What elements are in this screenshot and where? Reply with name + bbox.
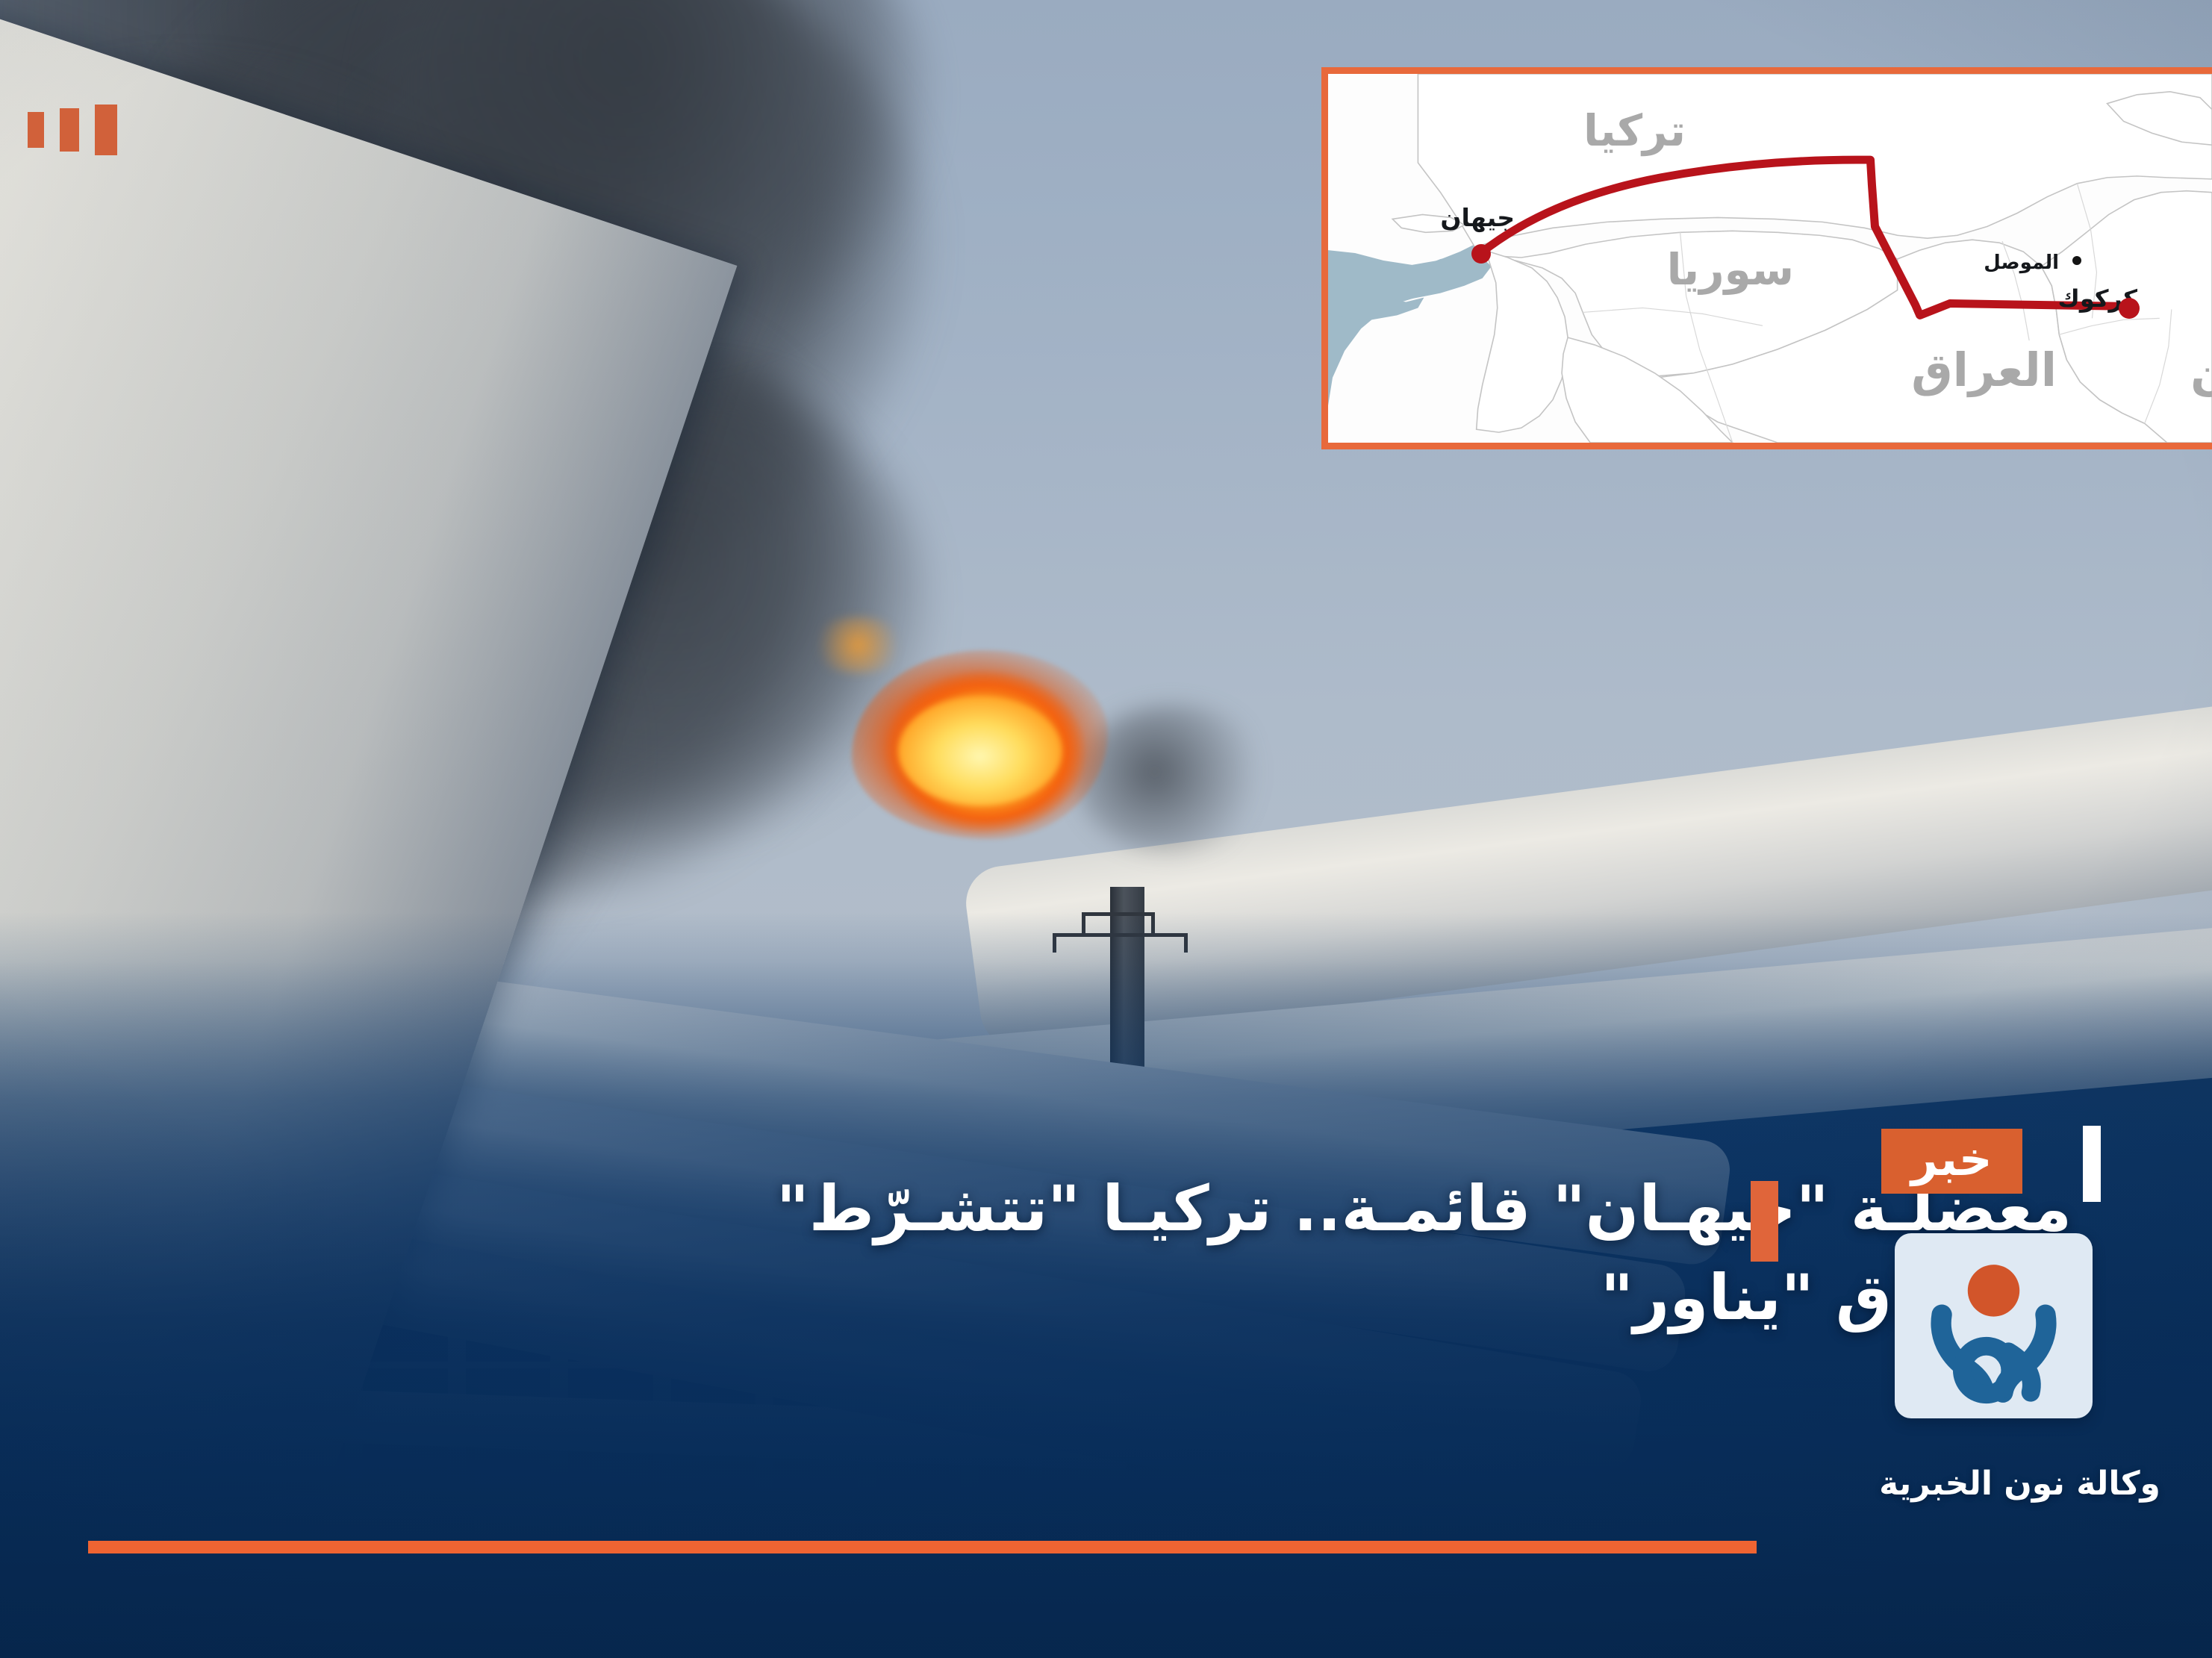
map-marker-kirkuk-dot bbox=[2119, 298, 2140, 319]
headline-line-2: والعراق "يناور" bbox=[467, 1253, 2072, 1342]
headline: معضلـة "جيهـان" قائمـة.. تركيـا "تتشـرّط… bbox=[467, 1165, 2072, 1343]
country-borders bbox=[1392, 74, 2212, 443]
agency-logo-tile bbox=[1895, 1233, 2093, 1418]
map-city-label-ceyhan: جيهان bbox=[1440, 203, 1515, 232]
bottom-rule bbox=[88, 1541, 1757, 1553]
mediterranean-sea-body bbox=[1328, 243, 1487, 405]
map-marker-ceyhan-dot bbox=[1471, 244, 1491, 264]
map-city-label-mosul: الموصل bbox=[1984, 252, 2059, 274]
headline-accent-bar bbox=[1751, 1181, 1778, 1262]
map-canvas: تركيا سوريا العراق ن جيهان الموصل كركوك bbox=[1328, 74, 2212, 443]
mark-bar-1 bbox=[95, 105, 117, 155]
mark-bar-2 bbox=[60, 108, 79, 152]
agency-logo-icon bbox=[1895, 1233, 2093, 1418]
map-inset: تركيا سوريا العراق ن جيهان الموصل كركوك bbox=[1321, 67, 2212, 449]
agency-name: وكالة نون الخبرية bbox=[1828, 1465, 2212, 1503]
news-badge: خبر bbox=[1881, 1129, 2022, 1194]
logo-head-circle bbox=[1968, 1265, 2019, 1316]
news-badge-tick bbox=[2083, 1126, 2101, 1202]
news-graphic-card: تركيا سوريا العراق ن جيهان الموصل كركوك … bbox=[0, 0, 2212, 1658]
map-label-syria: سوريا bbox=[1667, 244, 1794, 295]
map-label-iran: ن bbox=[2190, 346, 2212, 401]
headline-line-1: معضلـة "جيهـان" قائمـة.. تركيـا "تتشـرّط… bbox=[467, 1165, 2072, 1253]
mark-bar-3 bbox=[28, 112, 44, 148]
three-bar-logo-mark bbox=[28, 105, 117, 155]
map-label-iraq: العراق bbox=[1911, 343, 2057, 397]
map-label-turkey: تركيا bbox=[1583, 105, 1686, 156]
map-marker-mosul-dot bbox=[2072, 256, 2081, 265]
